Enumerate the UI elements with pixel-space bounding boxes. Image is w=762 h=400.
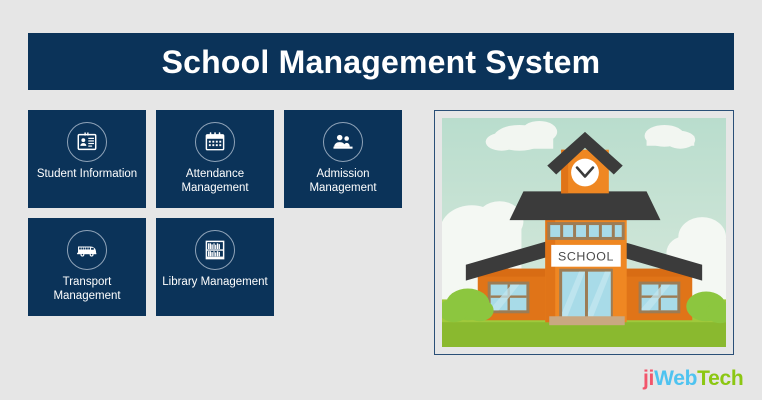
school-sign-text: SCHOOL: [558, 250, 614, 264]
bookshelf-icon: [195, 230, 235, 270]
logo-part-ji: ji: [643, 367, 654, 390]
card-admission-management[interactable]: Admission Management: [284, 110, 402, 208]
page-root: School Management System Student Informa…: [0, 0, 762, 400]
school-bus-icon: [67, 230, 107, 270]
card-transport-management[interactable]: Transport Management: [28, 218, 146, 316]
page-title: School Management System: [162, 46, 601, 78]
card-label: Transport Management: [31, 275, 143, 303]
card-label: Admission Management: [287, 167, 399, 195]
illustration-frame: SCHOOL: [434, 110, 734, 355]
card-label: Attendance Management: [159, 167, 271, 195]
feature-card-grid: Student Information: [28, 110, 418, 316]
card-library-management[interactable]: Library Management: [156, 218, 274, 316]
card-attendance-management[interactable]: Attendance Management: [156, 110, 274, 208]
entrance-step: [549, 316, 624, 325]
grass-dark: [442, 322, 726, 347]
card-student-information[interactable]: Student Information: [28, 110, 146, 208]
calendar-icon: [195, 122, 235, 162]
page-header-banner: School Management System: [28, 33, 734, 90]
card-label: Library Management: [162, 275, 267, 289]
logo-part-web: Web: [654, 367, 697, 390]
card-label: Student Information: [37, 167, 137, 181]
jiwebtech-logo: jiWebTech: [643, 368, 743, 389]
id-card-icon: [67, 122, 107, 162]
logo-part-tech: Tech: [697, 367, 743, 390]
clock-face: [571, 159, 599, 187]
school-building-illustration: SCHOOL: [442, 118, 726, 347]
people-group-icon: [323, 122, 363, 162]
